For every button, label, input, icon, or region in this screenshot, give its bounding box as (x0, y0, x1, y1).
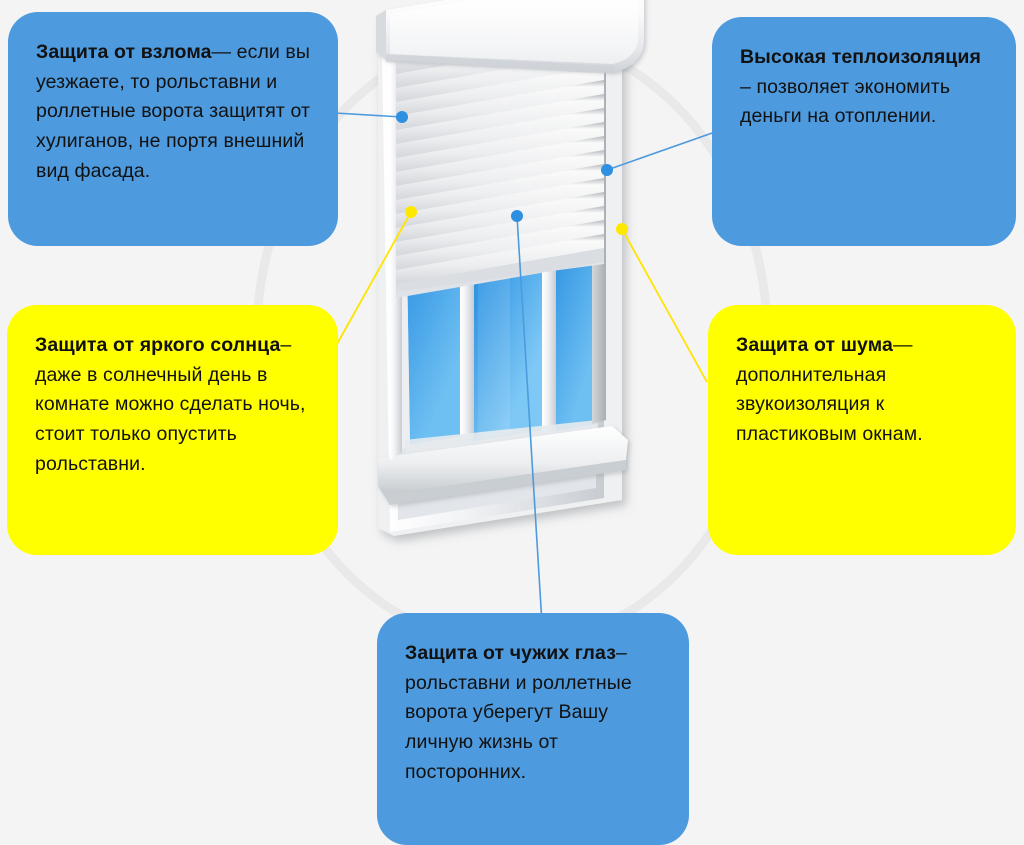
callout-sun-protection-lead: Защита от яркого солнца (35, 334, 280, 356)
callout-burglary-lead: Защита от взлома (36, 41, 212, 63)
callout-insulation: Высокая теплоизоляция – позволяет эконом… (712, 17, 1016, 246)
callout-privacy-lead: Защита от чужих глаз (405, 642, 616, 664)
callout-sun-protection: Защита от яркого солнца– даже в солнечны… (7, 305, 338, 555)
callout-insulation-body: – позволяет экономить деньги на отоплени… (740, 76, 950, 128)
callout-noise-protection-lead: Защита от шума (736, 334, 893, 356)
callout-insulation-lead: Высокая теплоизоляция (740, 46, 981, 68)
callout-noise-protection: Защита от шума— дополнительная звукоизол… (708, 305, 1016, 555)
infographic-canvas: Защита от взлома— если вы уезжаете, то р… (0, 0, 1024, 845)
callout-burglary: Защита от взлома— если вы уезжаете, то р… (8, 12, 338, 246)
roller-shutter-window-illustration (360, 0, 680, 570)
callout-privacy: Защита от чужих глаз– рольставни и ролле… (377, 613, 689, 845)
